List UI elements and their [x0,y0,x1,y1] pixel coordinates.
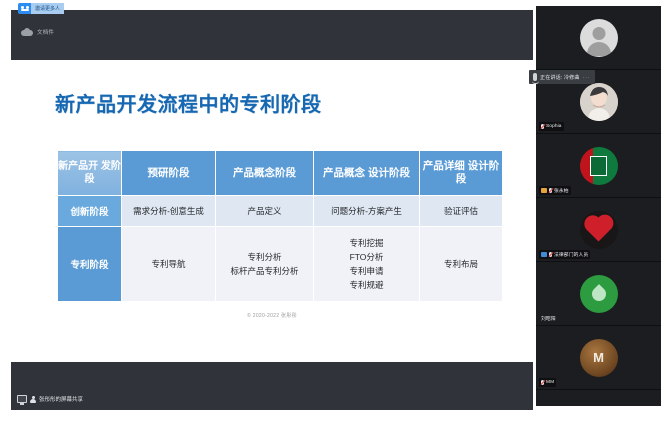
slide-canvas: 新产品开发流程中的专利阶段 新产品开 发阶段 预研阶段 [11,60,533,362]
avatar-body-shape [587,42,611,56]
cell-r2c2-line-1: 专利分析 [216,250,313,264]
book-cover-shape [590,156,607,176]
participant-name: MM [546,380,554,385]
cell-r2c2: 专利分析 标杆产品专利分析 [216,227,314,302]
screen-share-status: 张彤彤的屏幕共享 [17,395,83,403]
mic-muted-icon [541,380,544,385]
participant-rail: Sophia 张永柏 法律部门的人员 [536,6,661,406]
cell-r2c1-line-1: 专利导航 [122,257,215,271]
leaf-icon [589,284,609,304]
topbar-label: 文档件 [37,28,54,36]
participant-name-strip: MM [539,378,556,387]
avatar [580,275,618,313]
table-header-cell-2: 产品概念阶段 [216,151,314,196]
avatar: M [580,339,618,377]
meeting-screen: 文档件 新产品开发流程中的专利阶段 新产品开 发阶段 预研阶段 [0,0,667,425]
participant-name: 张永柏 [554,187,569,194]
cell-r1c1-line-1: 需求分析-创意生成 [122,204,215,218]
cell-r2c3-line-2: FTO分析 [314,250,419,264]
mic-muted-icon [549,188,552,193]
active-speaker-label: 正在讲话: 冷修曲 [540,74,580,81]
cell-r2c1: 专利导航 [122,227,216,302]
monitor-icon [17,395,27,403]
people-icon [18,3,31,14]
header-3-line-2: 设计阶段 [368,167,410,179]
slide-footer-copyright: © 2020-2022 张彤彤 [11,312,533,319]
topbar-document-item[interactable]: 文档件 [21,28,54,36]
page-title: 新产品开发流程中的专利阶段 [55,88,322,117]
table-header-row: 新产品开 发阶段 预研阶段 产品概念阶段 产品概念 设计阶段 [58,151,503,196]
screen-share-status-label: 张彤彤的屏幕共享 [39,395,83,403]
header-2-line-1: 产品概念阶段 [233,167,296,179]
heart-icon [586,217,610,241]
cell-r2c3-line-4: 专利规避 [314,278,419,292]
participant-tile[interactable]: 刘昭阳 [536,262,661,326]
header-1-line-1: 预研阶段 [148,167,190,179]
mic-muted-icon [549,252,552,257]
participant-name-strip: Sophia [539,122,564,131]
table-header-corner: 新产品开 发阶段 [58,151,122,196]
shared-screen-region: 文档件 新产品开发流程中的专利阶段 新产品开 发阶段 预研阶段 [11,10,533,410]
cell-r1c4: 验证评估 [420,196,503,227]
table-header-cell-3: 产品概念 设计阶段 [314,151,420,196]
shared-app-bottombar: 张彤彤的屏幕共享 [11,362,533,410]
mic-muted-icon [541,124,544,129]
speaking-dots-icon: ... [583,74,591,80]
cell-r2c2-line-2: 标杆产品专利分析 [216,264,313,278]
avatar [580,211,618,249]
participant-name: 法律部门的人员 [554,251,588,258]
avatar-head-shape [592,27,605,40]
header-4-line-1: 产品详细 [423,160,465,172]
row-label-patent: 专利阶段 [58,227,122,302]
cell-r1c2-line-1: 产品定义 [216,204,313,218]
avatar [580,19,618,57]
video-icon [541,188,547,193]
avatar-initial: M [593,350,604,365]
cell-r2c3: 专利挖掘 FTO分析 专利申请 专利规避 [314,227,420,302]
cell-r2c3-line-1: 专利挖掘 [314,236,419,250]
table-row: 创新阶段 需求分析-创意生成 产品定义 问题分析-方案产生 验证评估 [58,196,503,227]
participant-name: 刘昭阳 [541,315,556,322]
participant-tile[interactable]: 张永柏 [536,134,661,198]
participant-name-strip: 法律部门的人员 [539,250,590,259]
cell-r1c4-line-1: 验证评估 [420,204,502,218]
participant-tile[interactable]: M MM [536,326,661,390]
header-3-line-1: 产品概念 [323,167,365,179]
participant-name-strip: 刘昭阳 [539,314,558,323]
person-icon [30,396,36,403]
cell-r1c3-line-1: 问题分析-方案产生 [314,204,419,218]
cell-r1c2: 产品定义 [216,196,314,227]
cell-r2c4-line-1: 专利布局 [420,257,502,271]
corner-line-1: 新产品开 [58,161,98,172]
cloud-icon [21,28,33,36]
invite-more-button[interactable]: 邀请更多人 [18,3,64,14]
table-header-cell-1: 预研阶段 [122,151,216,196]
row-label-innovation: 创新阶段 [58,196,122,227]
microphone-icon [533,73,537,81]
portrait-illustration-icon [580,83,618,121]
video-icon [541,252,547,257]
cell-r1c1: 需求分析-创意生成 [122,196,216,227]
patent-stage-table: 新产品开 发阶段 预研阶段 产品概念阶段 产品概念 设计阶段 [57,150,503,302]
avatar [580,147,618,185]
shared-app-topbar: 文档件 [11,10,533,60]
participant-name: Sophia [546,124,562,129]
participant-tile[interactable]: 法律部门的人员 [536,198,661,262]
invite-more-label: 邀请更多人 [31,3,64,14]
table-row: 专利阶段 专利导航 专利分析 标杆产品专利分析 专利挖掘 FTO分析 专利申请 [58,227,503,302]
active-speaker-tooltip: 正在讲话: 冷修曲 ... [529,70,595,84]
participant-name-strip: 张永柏 [539,186,571,195]
cell-r1c3: 问题分析-方案产生 [314,196,420,227]
cell-r2c4: 专利布局 [420,227,503,302]
cell-r2c3-line-3: 专利申请 [314,264,419,278]
participant-tile[interactable] [536,6,661,70]
avatar [580,83,618,121]
table-header-cell-4: 产品详细 设计阶段 [420,151,503,196]
